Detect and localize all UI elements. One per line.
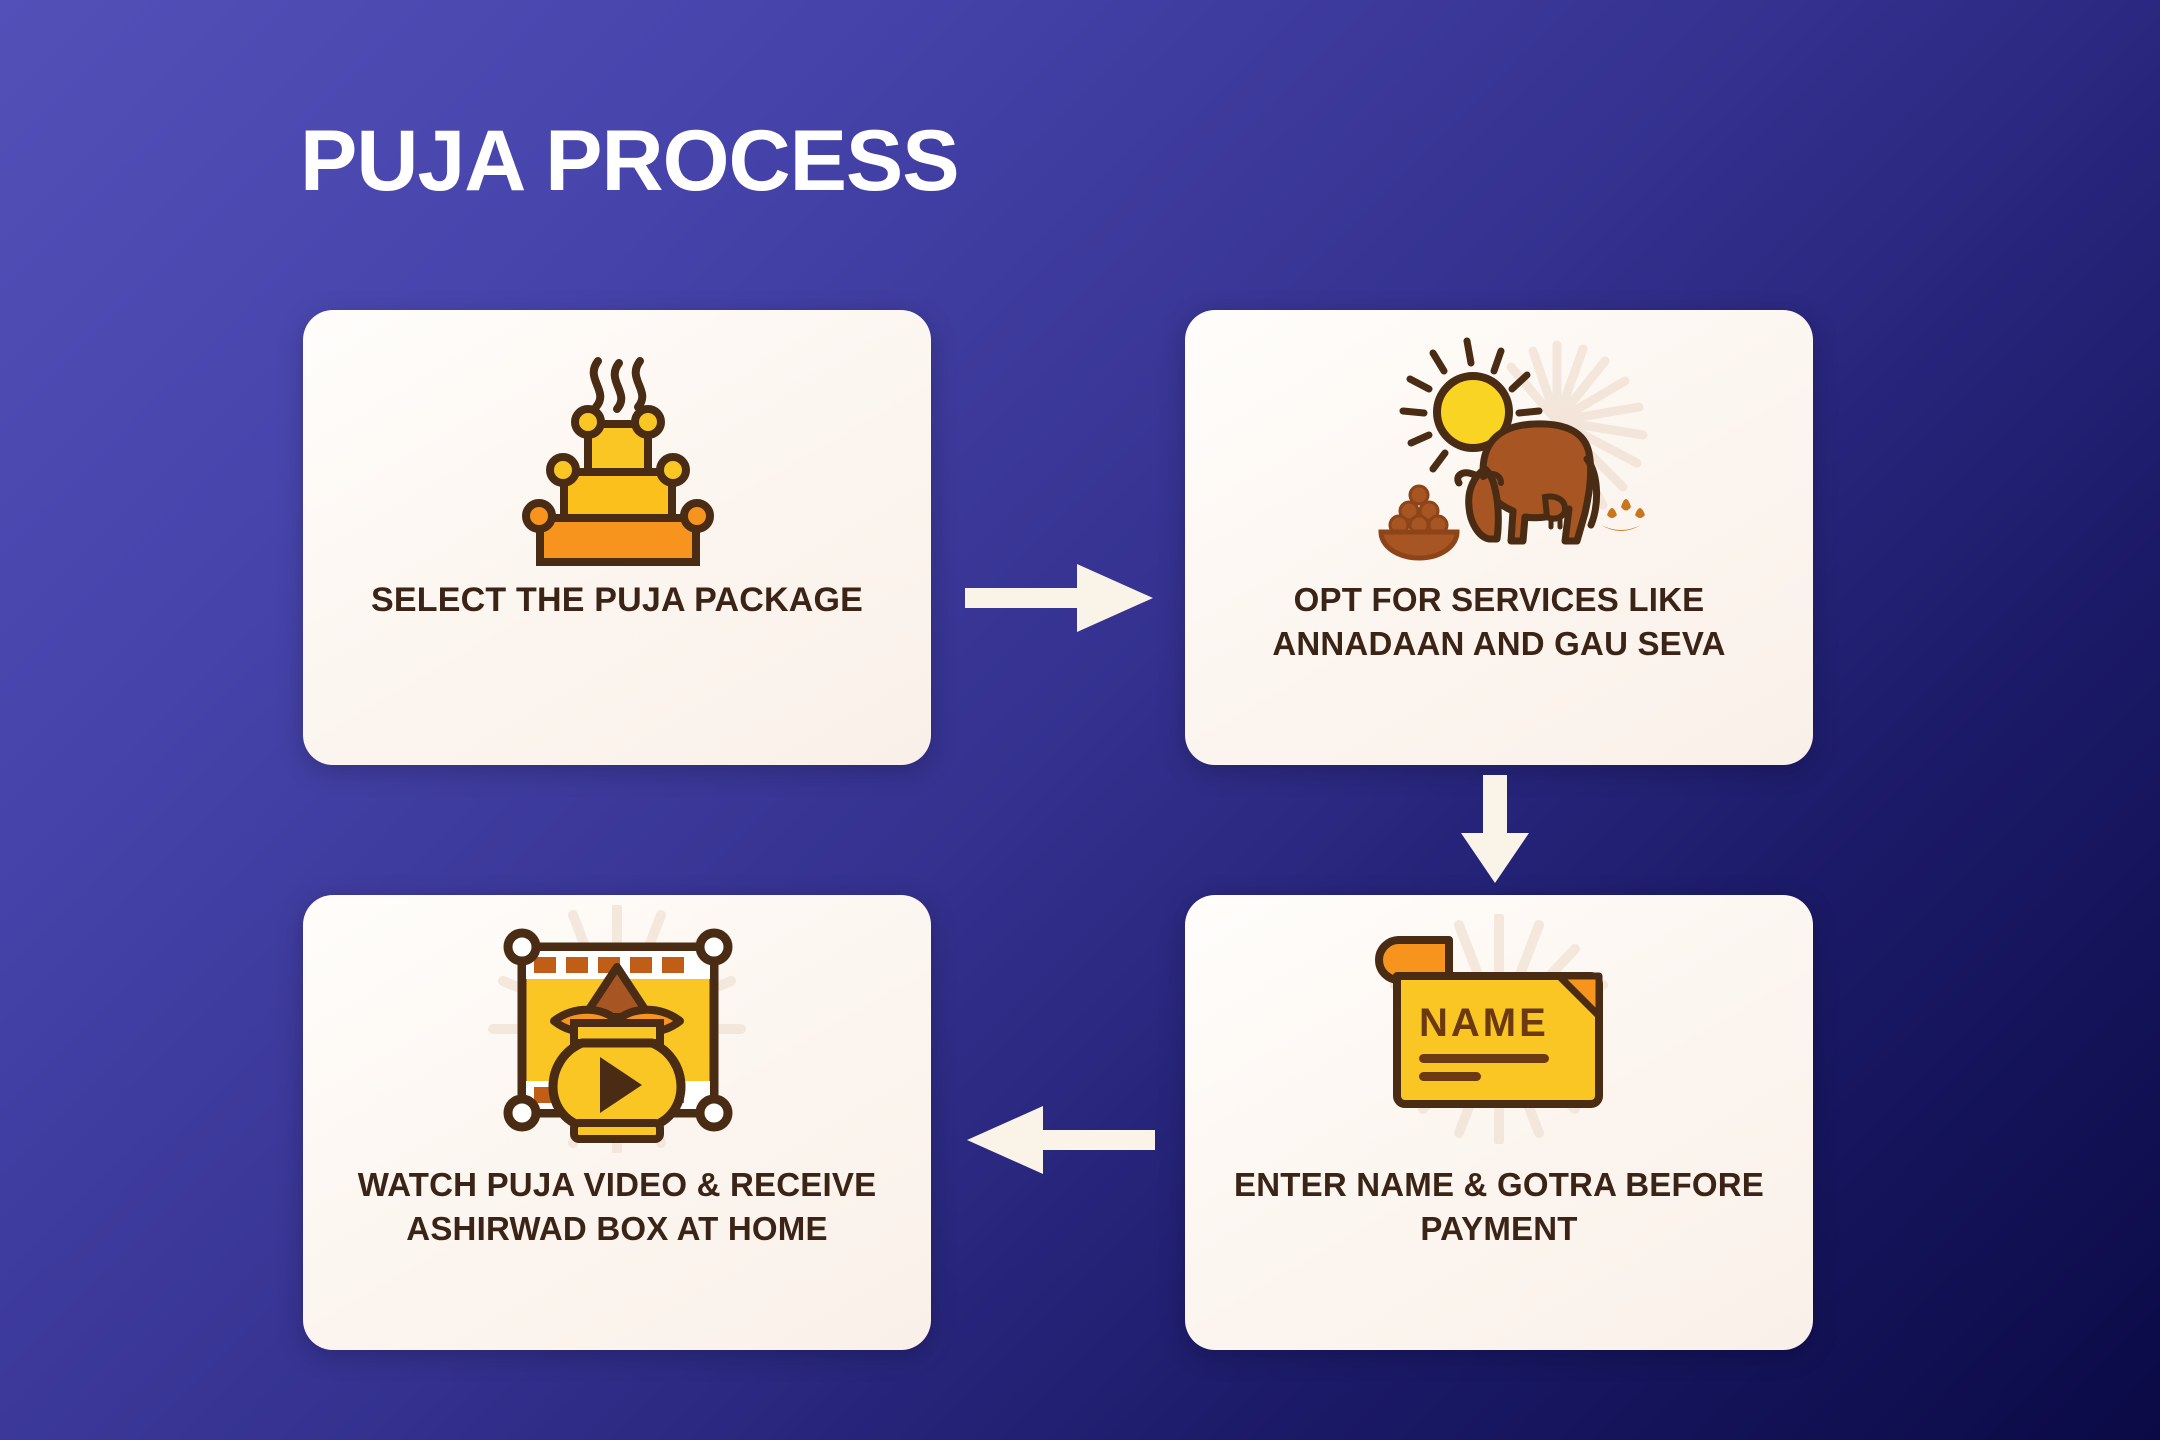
step-card-1-label: SELECT THE PUJA PACKAGE bbox=[334, 578, 899, 623]
step-card-1[interactable]: SELECT THE PUJA PACKAGE bbox=[303, 310, 931, 765]
page-title: PUJA PROCESS bbox=[300, 118, 959, 204]
arrow-down-icon bbox=[1455, 775, 1535, 885]
cow-sun-annadaan-icon bbox=[1185, 310, 1813, 578]
puja-process-infographic: PUJA PROCESS bbox=[0, 0, 2160, 1440]
step-card-4-label: WATCH PUJA VIDEO & RECEIVE ASHIRWAD BOX … bbox=[334, 1163, 899, 1251]
puja-altar-icon bbox=[303, 310, 931, 578]
name-card-icon: NAME bbox=[1185, 895, 1813, 1163]
name-card-text: NAME bbox=[1419, 1001, 1549, 1045]
step-card-2[interactable]: OPT FOR SERVICES LIKE ANNADAAN AND GAU S… bbox=[1185, 310, 1813, 765]
step-card-3[interactable]: NAME ENTER NAME & GOTRA BEFORE PAYMENT bbox=[1185, 895, 1813, 1350]
arrow-left-icon bbox=[965, 1100, 1155, 1180]
step-card-3-label: ENTER NAME & GOTRA BEFORE PAYMENT bbox=[1216, 1163, 1781, 1251]
puja-video-kalash-icon bbox=[303, 895, 931, 1163]
arrow-right-icon bbox=[965, 558, 1155, 638]
step-card-4[interactable]: WATCH PUJA VIDEO & RECEIVE ASHIRWAD BOX … bbox=[303, 895, 931, 1350]
step-card-2-label: OPT FOR SERVICES LIKE ANNADAAN AND GAU S… bbox=[1216, 578, 1781, 666]
